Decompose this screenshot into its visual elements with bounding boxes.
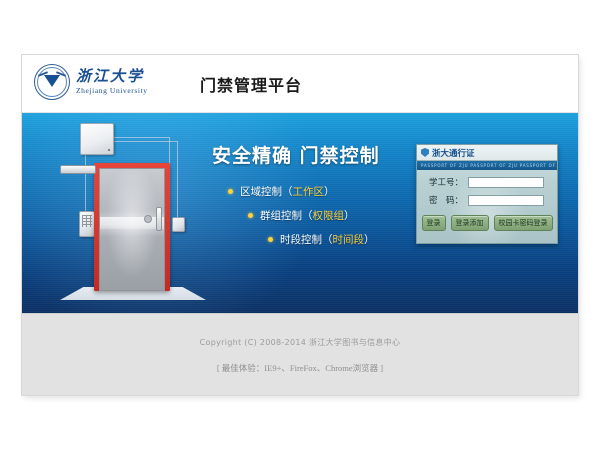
- wire-top-a: [112, 137, 170, 139]
- keypad-reader-icon: [79, 211, 95, 237]
- controller-box-icon: [80, 123, 114, 155]
- feature-text: 区域控制（: [240, 184, 293, 199]
- logo-english-name: Zhejiang University: [76, 87, 148, 95]
- feature-text: 时段控制（: [280, 232, 333, 247]
- door-glass-highlight: [100, 217, 164, 229]
- wire-right-b: [177, 141, 179, 219]
- page-frame: 浙江大学 Zhejiang University 门禁管理平台: [22, 55, 578, 395]
- list-item: 时段控制（时间段）: [268, 232, 422, 247]
- feature-highlight: 时间段: [333, 232, 365, 247]
- field-row-id: 学工号：: [423, 176, 557, 188]
- controller-led: [108, 149, 110, 151]
- login-panel: 浙大通行证 PASSPORT OF ZJU PASSPORT OF ZJU PA…: [416, 144, 558, 244]
- shield-icon: [421, 148, 429, 157]
- door-handle: [156, 207, 162, 231]
- hero-copy: 安全精确 门禁控制 区域控制（工作区） 群组控制（权限组） 时段控制（时间段）: [212, 141, 422, 263]
- password-input[interactable]: [468, 195, 544, 206]
- seal-bird-glyph: [44, 75, 60, 87]
- feature-tail: ）: [364, 232, 375, 247]
- campus-card-login-button[interactable]: 校园卡密码登录: [494, 215, 553, 231]
- list-item: 区域控制（工作区）: [228, 184, 422, 199]
- feature-tail: ）: [344, 208, 355, 223]
- zju-seal-icon: [34, 64, 70, 100]
- login-add-button[interactable]: 登录添加: [451, 215, 489, 231]
- door-closer-icon: [60, 165, 96, 174]
- site-header: 浙江大学 Zhejiang University 门禁管理平台: [22, 55, 578, 113]
- browser-compatibility-note: [ 最佳体验：IE9+、FireFox、Chrome浏览器 ]: [22, 348, 578, 374]
- list-item: 群组控制（权限组）: [248, 208, 422, 223]
- feature-tail: ）: [324, 184, 335, 199]
- login-panel-subtitle: PASSPORT OF ZJU PASSPORT OF ZJU PASSPORT…: [417, 163, 557, 168]
- university-logo[interactable]: 浙江大学 Zhejiang University: [34, 64, 148, 100]
- login-button-row: 登录 登录添加 校园卡密码登录: [417, 215, 557, 231]
- password-label: 密 码：: [423, 194, 463, 206]
- bullet-dot-icon: [228, 189, 233, 194]
- feature-text: 群组控制（: [260, 208, 313, 223]
- field-row-password: 密 码：: [423, 194, 557, 206]
- logo-chinese-name: 浙江大学: [76, 69, 148, 84]
- login-button[interactable]: 登录: [422, 215, 446, 231]
- bullet-dot-icon: [268, 237, 273, 242]
- keypad-keys: [82, 215, 92, 227]
- login-panel-header: 浙大通行证: [417, 145, 557, 161]
- copyright-text: Copyright (C) 2008-2014 浙江大学图书与信息中心: [22, 314, 578, 348]
- logo-wordmark: 浙江大学 Zhejiang University: [76, 69, 148, 95]
- card-reader-icon: [172, 217, 185, 232]
- door-knob: [144, 215, 152, 223]
- feature-highlight: 工作区: [293, 184, 325, 199]
- student-staff-id-label: 学工号：: [423, 176, 463, 188]
- login-panel-subtitle-strip: PASSPORT OF ZJU PASSPORT OF ZJU PASSPORT…: [417, 161, 557, 170]
- feature-list: 区域控制（工作区） 群组控制（权限组） 时段控制（时间段）: [212, 184, 422, 247]
- login-panel-title: 浙大通行证: [432, 147, 475, 159]
- bullet-dot-icon: [248, 213, 253, 218]
- hero-banner: 安全精确 门禁控制 区域控制（工作区） 群组控制（权限组） 时段控制（时间段）: [22, 113, 578, 313]
- access-control-door-illustration: [52, 119, 212, 309]
- student-staff-id-input[interactable]: [468, 177, 544, 188]
- hero-headline: 安全精确 门禁控制: [212, 141, 422, 168]
- page-title: 门禁管理平台: [200, 72, 302, 96]
- site-footer: Copyright (C) 2008-2014 浙江大学图书与信息中心 [ 最佳…: [22, 313, 578, 395]
- feature-highlight: 权限组: [313, 208, 345, 223]
- wire-left: [85, 153, 87, 211]
